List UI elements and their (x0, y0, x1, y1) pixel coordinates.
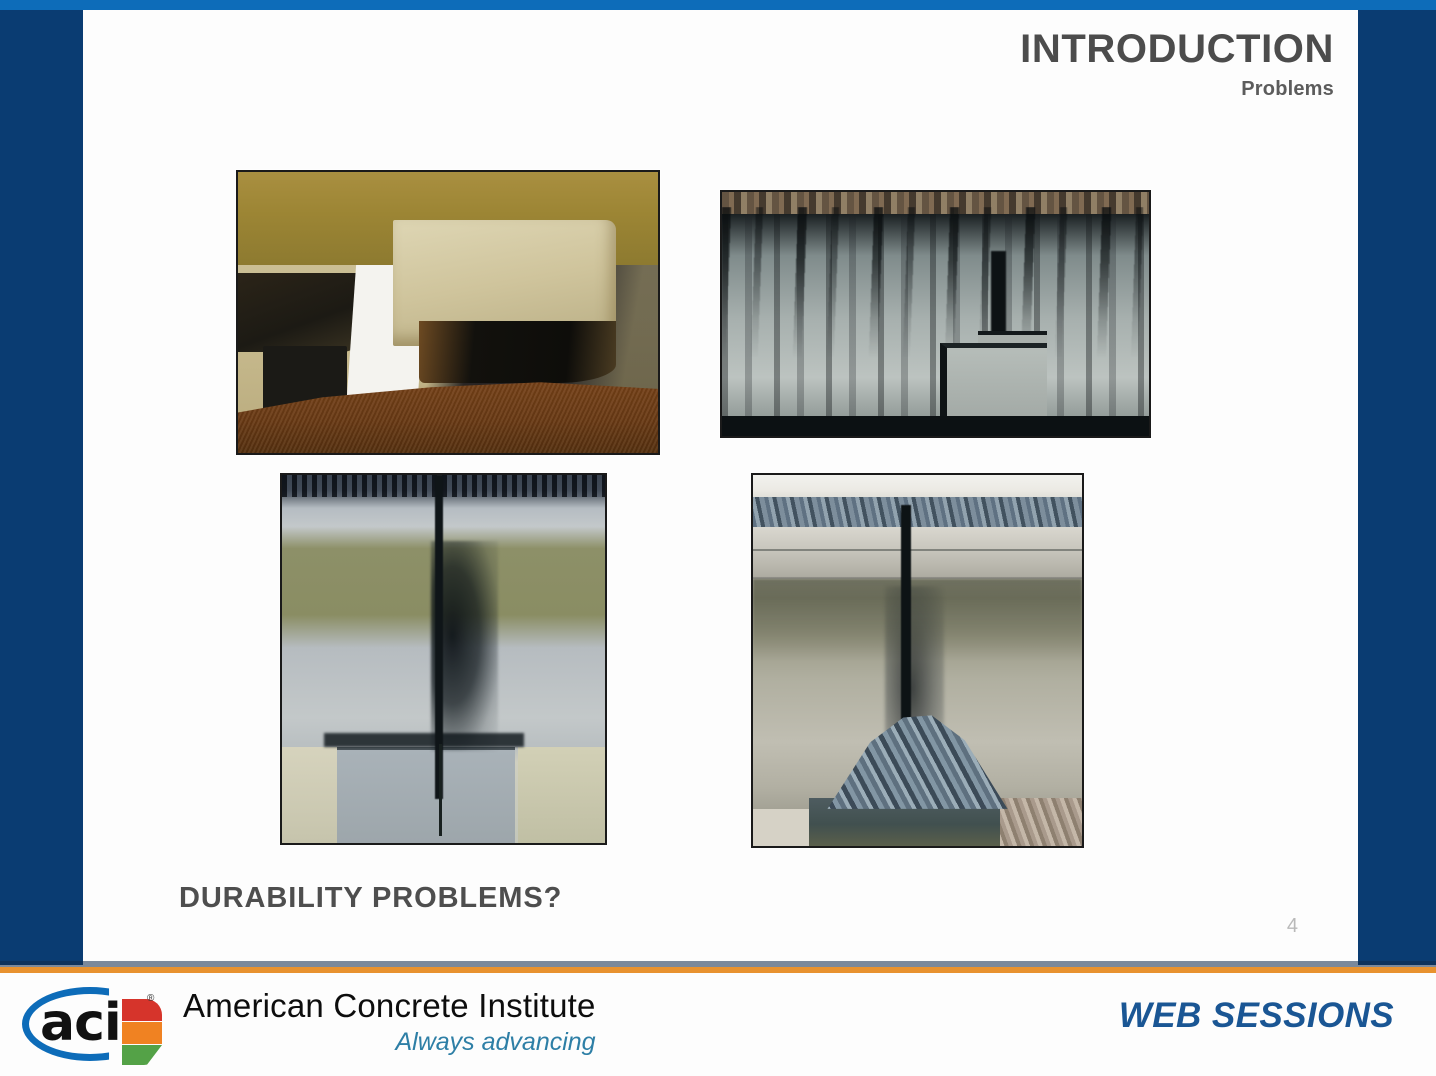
ground-shadow-shape (722, 416, 1149, 436)
right-ground-shape (518, 747, 605, 843)
platform-label: WEB SESSIONS (1119, 996, 1394, 1036)
photo-cracked-pier-column (280, 473, 607, 845)
slide: INTRODUCTION Problems (0, 0, 1436, 1076)
water-stain-streaks-shape (722, 207, 1149, 358)
bearing-plate-shape (419, 321, 616, 383)
slide-header: INTRODUCTION Problems (1020, 28, 1334, 101)
photo-scene (282, 475, 605, 843)
ballast-gravel-shape (753, 497, 1082, 527)
slide-footer: aci ® American Concrete Institute Always… (0, 973, 1436, 1076)
page-title: INTRODUCTION (1020, 28, 1334, 70)
deck-beam-shape (753, 527, 1082, 579)
logo-orange-segment-icon (122, 1022, 162, 1044)
photo-corroded-bridge-bearing (236, 170, 660, 455)
left-ground-shape (282, 747, 340, 843)
photo-scene (238, 172, 658, 453)
spalled-rubble-shape (799, 705, 1036, 809)
left-frame-bar (0, 10, 83, 965)
horizontal-stain-shape (324, 733, 524, 748)
page-number: 4 (1287, 915, 1298, 938)
logo-wordmark: aci (40, 997, 121, 1049)
aci-logo: aci ® (16, 981, 176, 1067)
top-accent-bar (0, 0, 1436, 10)
registered-trademark-icon: ® (147, 993, 154, 1004)
organization-block: American Concrete Institute Always advan… (183, 987, 596, 1057)
deck-seam-shape (753, 549, 1082, 551)
slide-canvas: INTRODUCTION Problems (83, 10, 1358, 965)
logo-red-segment-icon (122, 999, 162, 1021)
photo-scene (722, 192, 1149, 436)
page-subtitle: Problems (1020, 78, 1334, 101)
crack-extension-shape (439, 744, 442, 836)
organization-name: American Concrete Institute (183, 987, 596, 1025)
deck-underside-shape (282, 475, 605, 497)
right-frame-bar (1358, 10, 1436, 965)
photo-stained-abutment-wall (720, 190, 1151, 438)
left-ground-shape (753, 809, 812, 846)
right-ground-shape (996, 798, 1082, 846)
logo-green-segment-icon (122, 1045, 162, 1065)
organization-tagline: Always advancing (183, 1027, 596, 1057)
bearing-shadow-shape (238, 273, 364, 352)
photo-scene (753, 475, 1082, 846)
photo-spalled-abutment-joint (751, 473, 1084, 848)
pier-pedestal-shape (337, 747, 515, 843)
slide-caption: DURABILITY PROBLEMS? (179, 882, 562, 915)
